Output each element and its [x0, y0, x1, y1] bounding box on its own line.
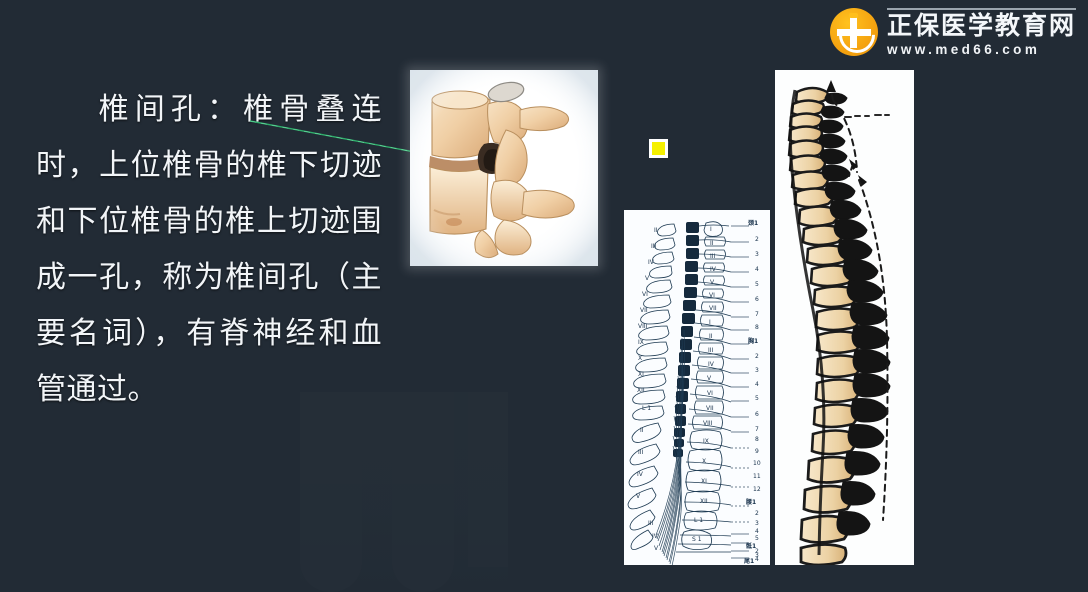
med66-cross-logo-icon	[830, 8, 878, 56]
svg-text:L 1: L 1	[694, 517, 703, 524]
svg-text:8: 8	[755, 436, 759, 443]
spinal-nerve-illustration: 颈1 23 45 67 8 胸1 23 45 67 89 1011 12 腰1 …	[624, 210, 770, 565]
brand-url: www.med66.com	[887, 43, 1076, 57]
svg-text:4: 4	[755, 556, 759, 563]
vertebra-illustration	[410, 70, 598, 266]
svg-text:IV: IV	[708, 361, 715, 368]
svg-text:II: II	[654, 227, 658, 234]
svg-text:颈1: 颈1	[747, 219, 758, 227]
svg-text:X: X	[702, 458, 706, 465]
svg-text:IV: IV	[648, 259, 655, 266]
svg-text:IV: IV	[652, 533, 659, 540]
svg-text:IX: IX	[638, 339, 644, 346]
svg-text:VII: VII	[640, 307, 648, 314]
svg-text:XII: XII	[637, 387, 645, 394]
caption-text: 椎间孔：椎骨叠连时，上位椎骨的椎下切迹和下位椎骨的椎上切迹围成一孔，称为椎间孔（…	[36, 93, 382, 406]
svg-text:VI: VI	[642, 291, 648, 298]
svg-text:5: 5	[755, 395, 759, 402]
svg-text:III: III	[651, 243, 657, 250]
logo-top-notch	[849, 13, 858, 18]
brand-logo: 正保医学教育网 www.med66.com	[830, 8, 1076, 57]
svg-text:VI: VI	[709, 292, 715, 299]
svg-text:III: III	[708, 347, 714, 354]
brand-name-cn: 正保医学教育网	[887, 8, 1076, 38]
svg-text:XI: XI	[701, 478, 707, 485]
svg-text:XII: XII	[700, 498, 708, 505]
spine-lateral-illustration	[775, 70, 914, 565]
svg-text:VII: VII	[709, 305, 717, 312]
svg-text:I: I	[709, 319, 711, 326]
svg-text:10: 10	[753, 460, 761, 467]
svg-text:2: 2	[755, 510, 759, 517]
svg-text:6: 6	[755, 411, 759, 418]
svg-text:V: V	[645, 275, 650, 282]
svg-text:IX: IX	[703, 438, 709, 445]
svg-text:3: 3	[755, 367, 759, 374]
logo-cross-horizontal	[837, 29, 871, 36]
svg-text:V: V	[636, 493, 641, 500]
svg-text:XI: XI	[638, 371, 644, 378]
svg-text:II: II	[640, 427, 644, 434]
svg-text:6: 6	[755, 296, 759, 303]
svg-text:胸1: 胸1	[748, 337, 758, 345]
brand-words: 正保医学教育网 www.med66.com	[887, 8, 1076, 57]
slide-canvas: 椎间孔：椎骨叠连时，上位椎骨的椎下切迹和下位椎骨的椎上切迹围成一孔，称为椎间孔（…	[0, 0, 1088, 592]
svg-text:III: III	[638, 449, 644, 456]
svg-text:7: 7	[755, 311, 759, 318]
svg-text:12: 12	[753, 486, 761, 493]
svg-text:5: 5	[755, 535, 759, 542]
spine-lateral-curvature	[775, 70, 914, 565]
svg-text:III: III	[710, 253, 716, 260]
svg-text:V: V	[707, 375, 712, 382]
svg-text:4: 4	[755, 528, 759, 535]
svg-text:VIII: VIII	[638, 323, 648, 330]
svg-text:VIII: VIII	[703, 420, 713, 427]
svg-text:VI: VI	[707, 390, 713, 397]
lesson-caption: 椎间孔：椎骨叠连时，上位椎骨的椎下切迹和下位椎骨的椎上切迹围成一孔，称为椎间孔（…	[36, 82, 382, 418]
svg-text:L 1: L 1	[642, 405, 651, 412]
svg-text:II: II	[709, 333, 713, 340]
cursor-fill	[652, 142, 665, 155]
yellow-square-cursor[interactable]	[649, 139, 668, 158]
svg-text:8: 8	[755, 324, 759, 331]
svg-text:VII: VII	[706, 405, 714, 412]
background-watermark-block	[300, 392, 362, 592]
svg-text:II: II	[710, 240, 714, 247]
svg-text:2: 2	[755, 236, 759, 243]
svg-text:7: 7	[755, 426, 759, 433]
spinal-nerve-diagram: 颈1 23 45 67 8 胸1 23 45 67 89 1011 12 腰1 …	[624, 210, 770, 565]
svg-text:5: 5	[755, 281, 759, 288]
svg-text:9: 9	[755, 448, 759, 455]
background-watermark-block	[468, 392, 508, 567]
svg-text:腰1: 腰1	[745, 498, 756, 506]
svg-text:X: X	[638, 355, 642, 362]
svg-text:IV: IV	[637, 471, 644, 478]
svg-text:3: 3	[755, 251, 759, 258]
lumbar-vertebra-photo	[410, 70, 598, 266]
svg-text:V: V	[654, 545, 659, 552]
svg-text:尾1: 尾1	[743, 557, 754, 565]
svg-text:4: 4	[755, 266, 759, 273]
svg-text:2: 2	[755, 353, 759, 360]
svg-text:3: 3	[755, 520, 759, 527]
svg-text:I: I	[710, 226, 712, 233]
svg-text:S 1: S 1	[692, 536, 702, 543]
svg-text:11: 11	[753, 473, 761, 480]
svg-text:IV: IV	[710, 266, 717, 273]
svg-text:4: 4	[755, 381, 759, 388]
background-watermark-block	[392, 392, 454, 592]
svg-text:III: III	[648, 520, 654, 527]
